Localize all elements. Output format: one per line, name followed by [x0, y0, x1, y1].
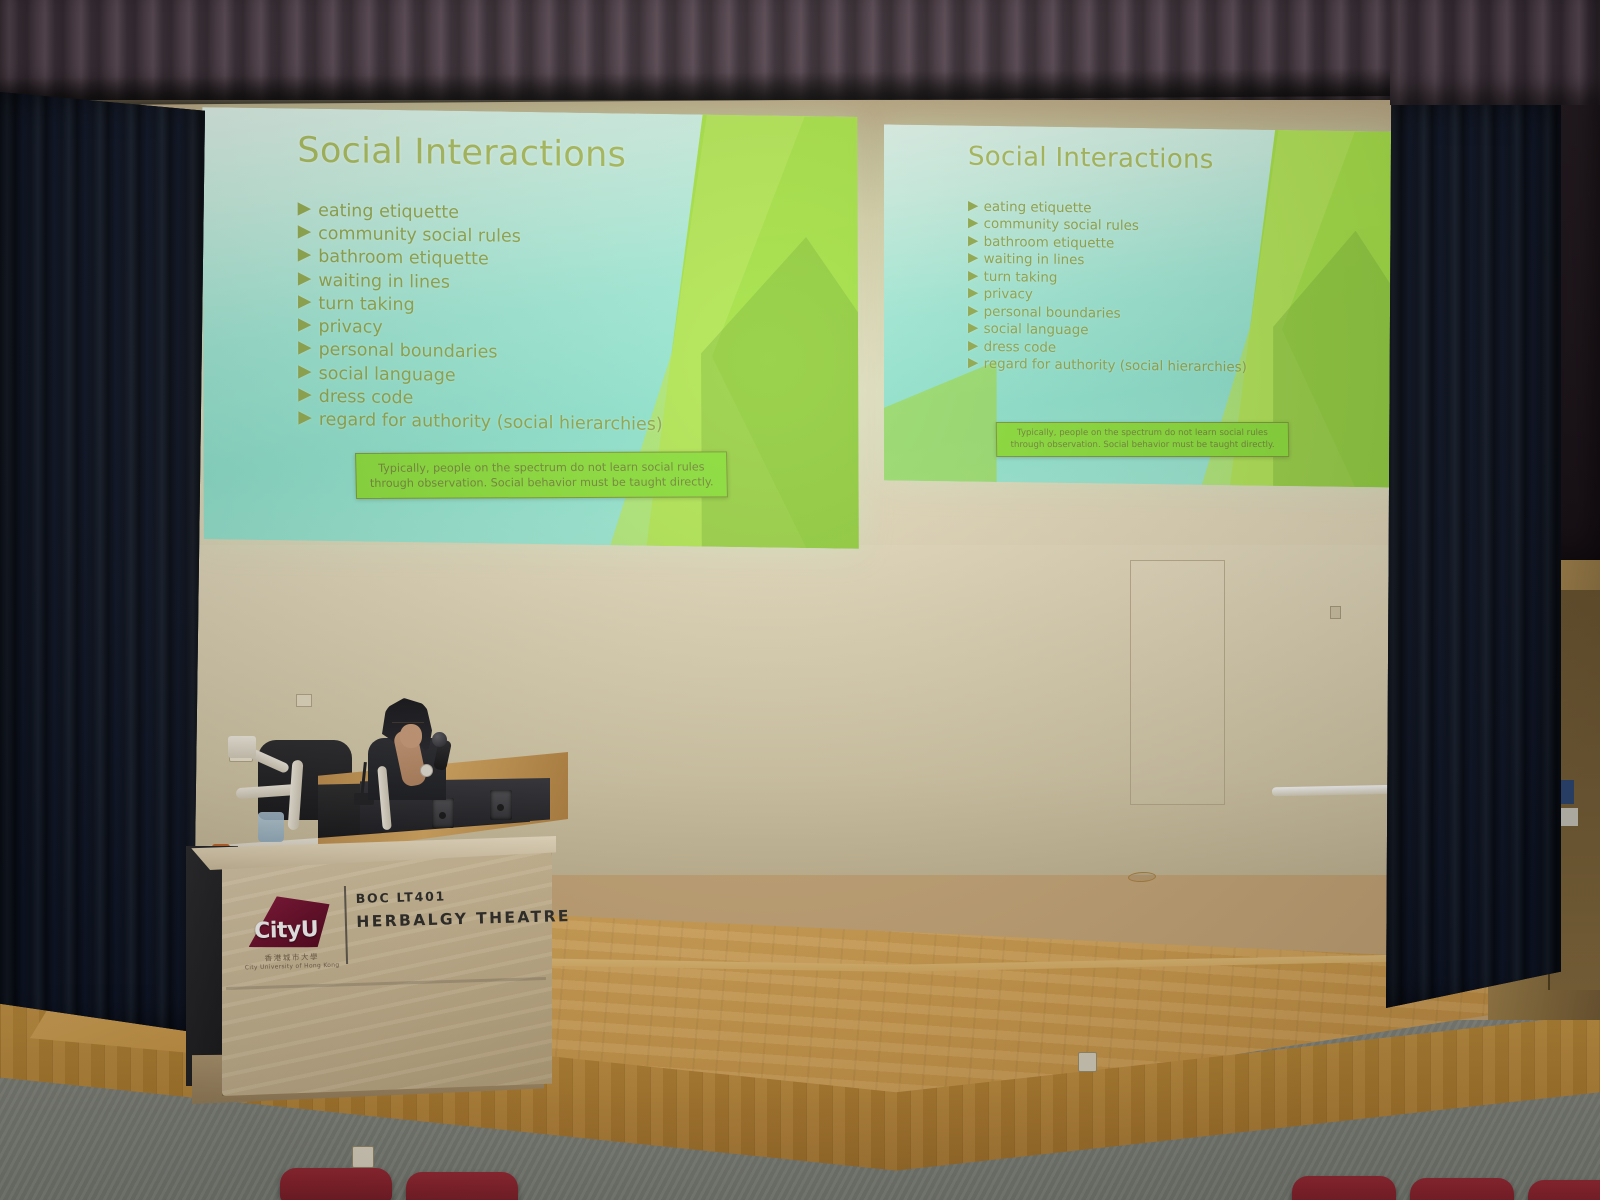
triangle-bullet-icon: ▶ — [968, 200, 978, 214]
presenter-badge — [420, 764, 433, 777]
list-item: ▶turn taking — [968, 269, 1247, 289]
list-item: ▶dress code — [298, 386, 662, 412]
valance-hem — [0, 66, 1600, 105]
audience-seat — [1292, 1176, 1396, 1200]
list-item: ▶community social rules — [968, 217, 1247, 237]
list-item: ▶dress code — [968, 339, 1247, 359]
floor-port-icon — [1128, 871, 1156, 882]
triangle-bullet-icon: ▶ — [968, 252, 978, 266]
triangle-bullet-icon: ▶ — [298, 363, 312, 381]
list-item: ▶turn taking — [298, 293, 662, 319]
visualizer-camera-head[interactable] — [228, 736, 256, 758]
list-item: ▶personal boundaries — [298, 340, 662, 366]
presenter-hand — [400, 724, 422, 748]
triangle-bullet-icon: ▶ — [968, 322, 978, 336]
wall-plate-icon[interactable] — [1330, 606, 1341, 619]
lecture-theatre-photo: Social Interactions ▶eating etiquette ▶c… — [0, 0, 1600, 1200]
list-item: ▶privacy — [298, 317, 662, 343]
list-item: ▶privacy — [968, 287, 1247, 307]
list-item: ▶community social rules — [298, 224, 662, 250]
triangle-bullet-icon: ▶ — [298, 247, 312, 265]
triangle-bullet-icon: ▶ — [968, 217, 978, 231]
triangle-bullet-icon: ▶ — [968, 339, 978, 353]
curtain-valance — [0, 0, 1600, 100]
triangle-bullet-icon: ▶ — [298, 201, 312, 219]
curtain-valance-right — [1390, 0, 1600, 105]
list-item: ▶regard for authority (social hierarchie… — [298, 410, 662, 436]
list-item: ▶social language — [968, 322, 1247, 342]
slide-title-left: Social Interactions — [297, 131, 626, 176]
triangle-bullet-icon: ▶ — [298, 270, 312, 288]
stage-curtain-left — [0, 92, 205, 1032]
desk-knob-icon[interactable] — [439, 812, 446, 819]
list-item: ▶bathroom etiquette — [298, 247, 662, 273]
triangle-bullet-icon: ▶ — [298, 410, 312, 428]
podium-room-sign: BOC LT401 HERBALGY THEATRE — [355, 885, 571, 931]
audience-seat — [1410, 1178, 1514, 1200]
list-item: ▶regard for authority (social hierarchie… — [968, 357, 1247, 377]
audience-seat — [406, 1172, 518, 1200]
triangle-bullet-icon: ▶ — [968, 235, 978, 249]
cityu-logo-wordmark: CityU — [254, 919, 319, 943]
cityu-logo-subtitle: 香港城市大學 City University of Hong Kong — [237, 950, 347, 971]
slide-bullets-right: ▶eating etiquette ▶community social rule… — [968, 200, 1247, 379]
list-item: ▶social language — [298, 363, 662, 389]
triangle-bullet-icon: ▶ — [968, 269, 978, 283]
slide-title-right: Social Interactions — [968, 142, 1214, 175]
desk-knob-icon[interactable] — [497, 804, 504, 811]
podium-front — [222, 848, 552, 1096]
projection-screen-right: Social Interactions ▶eating etiquette ▶c… — [884, 124, 1396, 487]
slide-callout-left: Typically, people on the spectrum do not… — [355, 451, 728, 499]
triangle-bullet-icon: ▶ — [298, 386, 312, 404]
water-bottle — [258, 812, 284, 842]
audience-seat — [1528, 1180, 1600, 1200]
floor-outlet-icon[interactable] — [352, 1146, 374, 1168]
audience-seat — [280, 1168, 392, 1200]
triangle-bullet-icon: ▶ — [968, 357, 978, 371]
projection-screen-left: Social Interactions ▶eating etiquette ▶c… — [202, 107, 859, 549]
microphone-head-icon — [432, 732, 447, 747]
list-item: ▶eating etiquette — [298, 201, 662, 227]
floor-outlet-icon[interactable] — [1078, 1052, 1097, 1072]
list-item: ▶waiting in lines — [298, 270, 662, 296]
triangle-bullet-icon: ▶ — [298, 224, 312, 242]
list-item: ▶bathroom etiquette — [968, 235, 1247, 255]
list-item: ▶waiting in lines — [968, 252, 1247, 272]
wall-switch-icon[interactable] — [296, 694, 312, 707]
triangle-bullet-icon: ▶ — [298, 340, 312, 358]
stage-curtain-right — [1386, 98, 1561, 1008]
slide-bullets-left: ▶eating etiquette ▶community social rule… — [298, 201, 663, 439]
triangle-bullet-icon: ▶ — [298, 317, 312, 335]
triangle-bullet-icon: ▶ — [968, 304, 978, 318]
triangle-bullet-icon: ▶ — [968, 287, 978, 301]
slide-callout-right: Typically, people on the spectrum do not… — [996, 422, 1289, 457]
triangle-bullet-icon: ▶ — [298, 293, 312, 311]
cityu-logo: CityU — [247, 895, 330, 949]
wall-door-outline[interactable] — [1130, 560, 1225, 805]
list-item: ▶personal boundaries — [968, 304, 1247, 324]
